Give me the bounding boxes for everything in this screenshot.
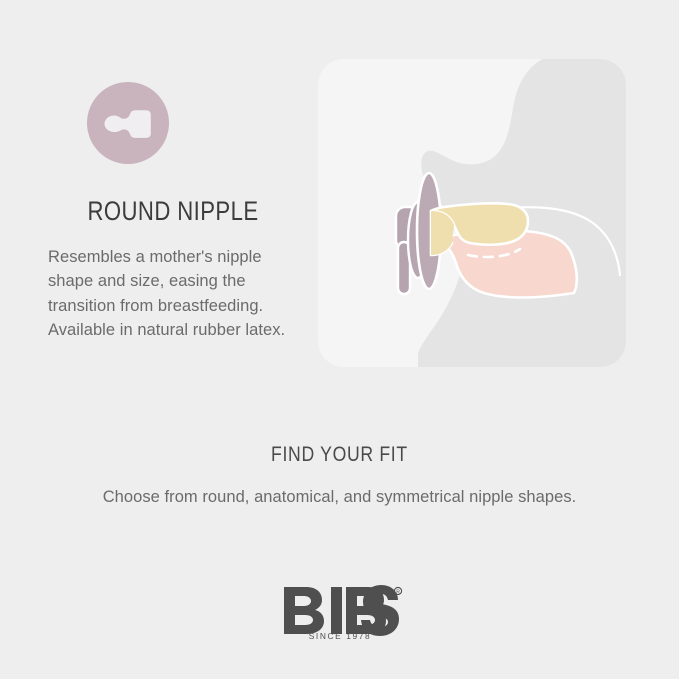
find-your-fit-title: FIND YOUR FIT (271, 443, 408, 467)
registered-trademark-icon: R (394, 587, 401, 595)
find-your-fit-title-wrap: FIND YOUR FIT (0, 443, 679, 467)
bibs-logo-mark: R SINCE 1978 (276, 583, 404, 639)
pacifier-nipple (431, 203, 528, 268)
feature-title: ROUND NIPPLE (71, 196, 276, 227)
feature-text-column: ROUND NIPPLE Resembles a mother's nipple… (48, 82, 298, 342)
find-your-fit-subtitle: Choose from round, anatomical, and symme… (0, 488, 679, 507)
round-nipple-icon (87, 82, 169, 164)
svg-text:R: R (396, 590, 400, 596)
find-your-fit-section: FIND YOUR FIT Choose from round, anatomi… (0, 443, 679, 507)
feature-description: Resembles a mother's nipple shape and si… (48, 245, 298, 342)
illustration-panel (318, 59, 626, 367)
brand-logo: R SINCE 1978 (0, 583, 679, 644)
logo-tagline: SINCE 1978 (308, 631, 371, 639)
product-feature-card: ROUND NIPPLE Resembles a mother's nipple… (0, 0, 679, 679)
